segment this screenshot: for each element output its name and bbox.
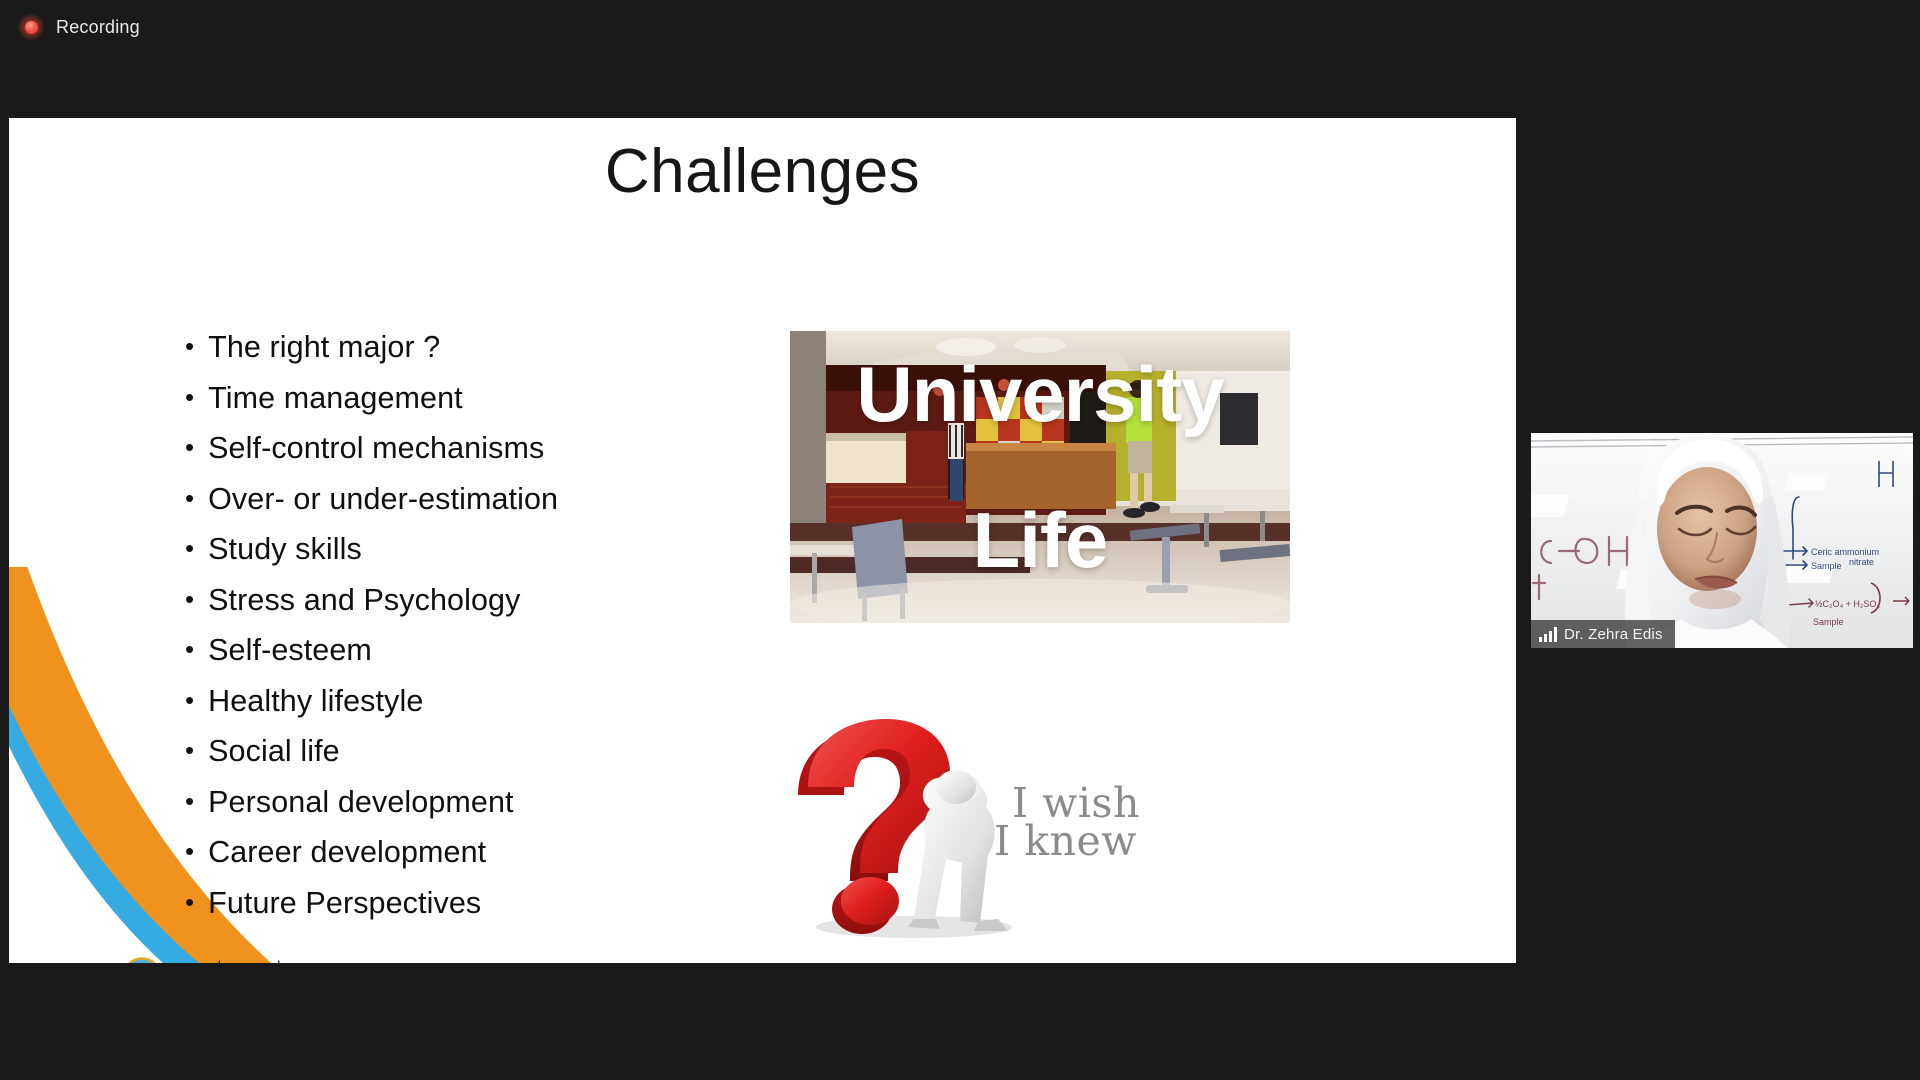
list-item-label: Over- or under-estimation [208,482,558,517]
list-item-label: Social life [208,734,340,769]
bullet-marker-icon: • [185,737,194,763]
list-item-label: The right major ? [208,330,440,365]
bullet-marker-icon: • [185,636,194,662]
ajman-university-logo: 1988 1988 جامعة عجمان AJMAN UNIVERSITY [121,956,291,963]
university-life-photo[interactable]: University Life [790,331,1290,623]
bullet-marker-icon: • [185,485,194,511]
page-title: Challenges [9,136,1516,207]
overlay-line-2: Life [790,501,1290,579]
list-item-label: Stress and Psychology [208,583,520,618]
recording-dot-icon [18,14,44,40]
list-item: •Time management [185,381,655,416]
university-life-overlay-text: University Life [790,331,1290,623]
svg-text:nitrate: nitrate [1849,557,1874,567]
participant-name-label: Dr. Zehra Edis [1564,626,1663,643]
i-wish-i-knew-text: I wish I knew [1012,785,1140,860]
list-item: •Future Perspectives [185,886,655,921]
svg-text:Sample: Sample [1811,561,1842,571]
bullet-marker-icon: • [185,535,194,561]
participant-video-tile[interactable]: Ceric ammonium nitrate Sample ½C₂O₄ + H₂… [1531,433,1913,648]
svg-text:½C₂O₄ + H₂SO₄: ½C₂O₄ + H₂SO₄ [1815,599,1880,609]
list-item-label: Study skills [208,532,362,567]
bullet-marker-icon: • [185,586,194,612]
meeting-screenshare-view: Recording Challenges •The right major ? … [0,0,1920,1080]
caption-line-2: I knew [994,823,1140,861]
bullet-marker-icon: • [185,889,194,915]
university-crest-icon: 1988 1988 [121,956,163,963]
list-item-label: Healthy lifestyle [208,684,423,719]
recording-indicator: Recording [18,14,140,40]
participant-name-badge: Dr. Zehra Edis [1531,620,1675,648]
overlay-line-1: University [790,355,1290,433]
list-item-label: Self-control mechanisms [208,431,544,466]
bullet-marker-icon: • [185,788,194,814]
list-item: •Self-esteem [185,633,655,668]
list-item: •Career development [185,835,655,870]
list-item: •Personal development [185,785,655,820]
list-item: •Social life [185,734,655,769]
bullet-marker-icon: • [185,434,194,460]
i-wish-i-knew-graphic[interactable]: I wish I knew [764,713,1184,943]
list-item: •Self-control mechanisms [185,431,655,466]
shared-slide[interactable]: Challenges •The right major ? •Time mana… [9,118,1516,963]
svg-text:Sample: Sample [1813,617,1844,627]
recording-label: Recording [56,17,140,38]
list-item-label: Self-esteem [208,633,372,668]
list-item: •Over- or under-estimation [185,482,655,517]
list-item-label: Time management [208,381,463,416]
list-item: •The right major ? [185,330,655,365]
bullet-marker-icon: • [185,333,194,359]
bullet-marker-icon: • [185,838,194,864]
list-item: •Stress and Psychology [185,583,655,618]
participant-video-frame: Ceric ammonium nitrate Sample ½C₂O₄ + H₂… [1531,433,1913,648]
bullet-marker-icon: • [185,687,194,713]
list-item-label: Future Perspectives [208,886,481,921]
logo-arabic-name: جامعة عجمان [171,960,291,963]
list-item: •Study skills [185,532,655,567]
list-item-label: Personal development [208,785,514,820]
list-item: •Healthy lifestyle [185,684,655,719]
list-item-label: Career development [208,835,486,870]
challenges-bullet-list: •The right major ? •Time management •Sel… [185,330,655,936]
svg-text:Ceric ammonium: Ceric ammonium [1811,547,1879,557]
bullet-marker-icon: • [185,384,194,410]
signal-bars-icon [1539,627,1557,642]
